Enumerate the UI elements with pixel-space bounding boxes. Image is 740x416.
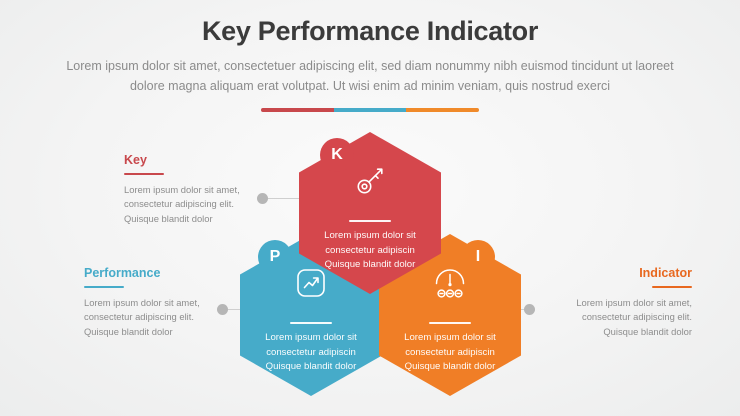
- connector-dot-indicator: [524, 304, 535, 315]
- color-divider: [261, 108, 479, 112]
- side-body-performance-line-3: Quisque blandit dolor: [84, 325, 236, 340]
- side-title-indicator: Indicator: [540, 267, 692, 281]
- hexagon-key-text: Lorem ipsum dolor sit consectetur adipis…: [309, 229, 431, 272]
- hexagon-performance-rule: [290, 322, 332, 325]
- hexagon-indicator-text-line-3: Quisque blandit dolor: [389, 360, 511, 374]
- side-body-indicator-line-1: Lorem ipsum dolor sit amet,: [540, 296, 692, 311]
- side-rule-key: [124, 173, 164, 175]
- side-body-key-line-3: Quisque blandit dolor: [124, 212, 276, 227]
- side-body-indicator-line-3: Quisque blandit dolor: [540, 325, 692, 340]
- side-title-key: Key: [124, 154, 276, 168]
- page-subtitle: Lorem ipsum dolor sit amet, consectetuer…: [60, 56, 680, 97]
- side-body-performance-line-1: Lorem ipsum dolor sit amet,: [84, 296, 236, 311]
- divider-segment-orange: [406, 108, 479, 112]
- hexagon-key-text-line-1: Lorem ipsum dolor sit: [309, 229, 431, 243]
- side-body-performance-line-2: consectetur adipiscing elit.: [84, 310, 236, 325]
- side-block-key: Key Lorem ipsum dolor sit amet, consecte…: [124, 154, 276, 226]
- side-rule-performance: [84, 286, 124, 288]
- connector-dot-key: [257, 193, 268, 204]
- hexagon-key-text-line-2: consectetur adipiscin: [309, 244, 431, 258]
- hexagon-indicator-text: Lorem ipsum dolor sit consectetur adipis…: [389, 331, 511, 374]
- side-title-performance: Performance: [84, 267, 236, 281]
- hexagon-indicator-text-line-2: consectetur adipiscin: [389, 346, 511, 360]
- hexagon-key-rule: [349, 220, 391, 223]
- hexagon-indicator-text-line-1: Lorem ipsum dolor sit: [389, 331, 511, 345]
- side-rule-indicator: [652, 286, 692, 288]
- side-body-key-line-1: Lorem ipsum dolor sit amet,: [124, 183, 276, 198]
- side-body-indicator: Lorem ipsum dolor sit amet, consectetur …: [540, 296, 692, 340]
- side-body-performance: Lorem ipsum dolor sit amet, consectetur …: [84, 296, 236, 340]
- side-block-performance: Performance Lorem ipsum dolor sit amet, …: [84, 267, 236, 339]
- hexagon-performance-content: Lorem ipsum dolor sit consectetur adipis…: [240, 322, 382, 374]
- badge-performance[interactable]: P: [258, 240, 292, 274]
- side-body-indicator-line-2: consectetur adipiscing elit.: [540, 310, 692, 325]
- divider-segment-red: [261, 108, 334, 112]
- hexagon-performance-text-line-1: Lorem ipsum dolor sit: [250, 331, 372, 345]
- hexagon-indicator-content: Lorem ipsum dolor sit consectetur adipis…: [379, 322, 521, 374]
- hexagon-performance-text-line-2: consectetur adipiscin: [250, 346, 372, 360]
- connector-dot-performance: [217, 304, 228, 315]
- hexagon-performance-text-line-3: Quisque blandit dolor: [250, 360, 372, 374]
- hexagon-performance-text: Lorem ipsum dolor sit consectetur adipis…: [250, 331, 372, 374]
- badge-key[interactable]: K: [320, 138, 354, 172]
- page-title: Key Performance Indicator: [0, 16, 740, 47]
- side-body-key-line-2: consectetur adipiscing elit.: [124, 197, 276, 212]
- side-body-key: Lorem ipsum dolor sit amet, consectetur …: [124, 183, 276, 227]
- side-block-indicator: Indicator Lorem ipsum dolor sit amet, co…: [540, 267, 692, 339]
- hexagon-key-content: Lorem ipsum dolor sit consectetur adipis…: [299, 220, 441, 272]
- badge-indicator[interactable]: I: [461, 240, 495, 274]
- key-icon: [299, 160, 441, 202]
- hexagon-indicator-rule: [429, 322, 471, 325]
- divider-segment-blue: [334, 108, 407, 112]
- header: Key Performance Indicator Lorem ipsum do…: [0, 0, 740, 112]
- hexagon-diagram: Lorem ipsum dolor sit consectetur adipis…: [0, 112, 740, 416]
